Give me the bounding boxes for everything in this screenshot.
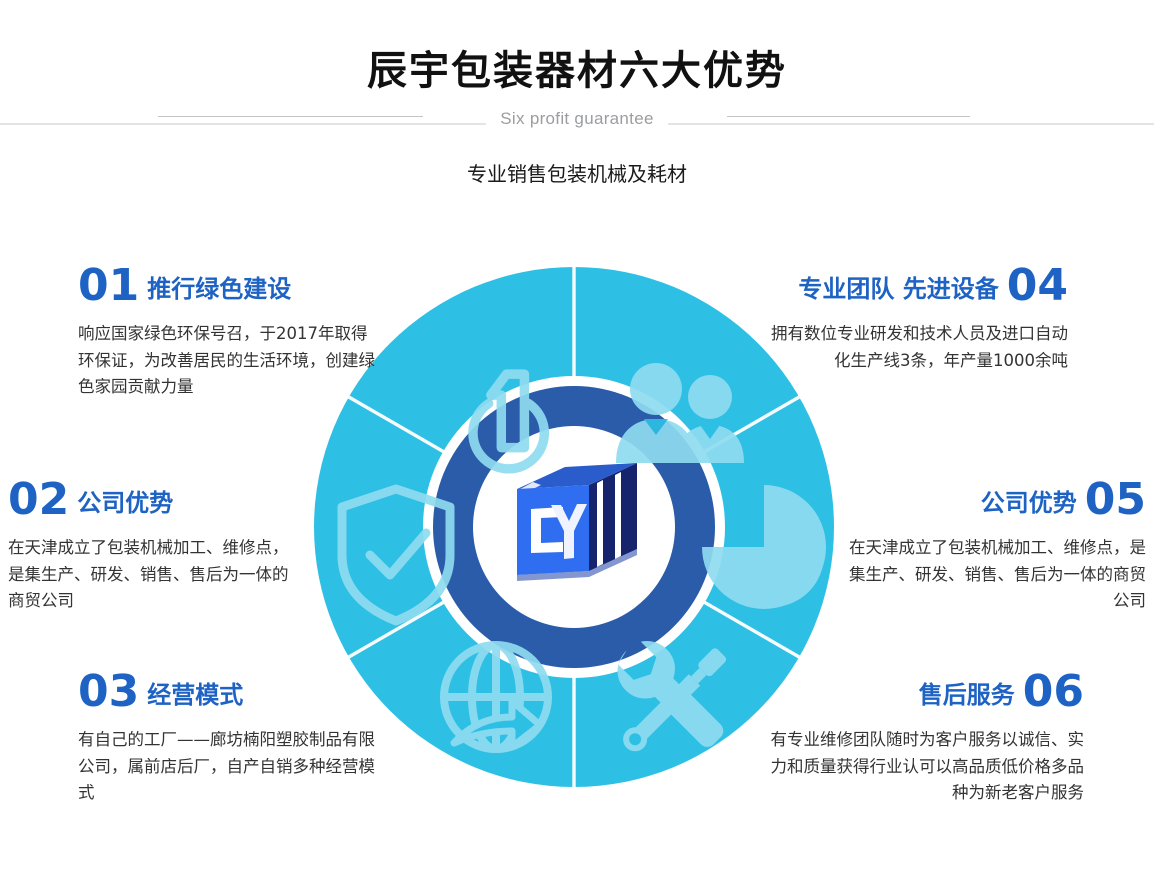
advantage-item-04: 专业团队 先进设备04 拥有数位专业研发和技术人员及进口自动化生产线3条，年产量… [768, 264, 1068, 374]
advantage-item-03: 03经营模式 有自己的工厂——廊坊楠阳塑胶制品有限公司，属前店后厂，自产自销多种… [78, 670, 388, 807]
advantage-number-05: 05 [1085, 474, 1146, 525]
advantage-number-03: 03 [78, 666, 139, 717]
advantage-item-02: 02公司优势 在天津成立了包装机械加工、维修点，是集生产、研发、销售、售后为一体… [0, 478, 300, 615]
advantage-body-03: 有自己的工厂——廊坊楠阳塑胶制品有限公司，属前店后厂，自产自销多种经营模式 [78, 727, 388, 807]
advantage-heading-01: 推行绿色建设 [147, 275, 291, 303]
advantage-item-03-head: 03经营模式 [78, 670, 388, 714]
subtitle-english-text: Six profit guarantee [486, 109, 667, 128]
advantage-item-01-head: 01推行绿色建设 [78, 264, 378, 308]
advantage-heading-04: 专业团队 先进设备 [798, 275, 998, 303]
advantage-item-04-head: 专业团队 先进设备04 [768, 264, 1068, 308]
advantage-heading-06: 售后服务 [919, 681, 1015, 709]
advantage-heading-03: 经营模式 [147, 681, 243, 709]
advantage-number-02: 02 [8, 474, 69, 525]
advantage-item-06-head: 售后服务06 [764, 670, 1084, 714]
advantage-body-02: 在天津成立了包装机械加工、维修点，是集生产、研发、销售、售后为一体的商贸公司 [8, 535, 300, 615]
six-advantage-wheel [314, 267, 834, 787]
globe-arrow-icon [444, 645, 548, 749]
advantage-item-05: 公司优势05 在天津成立了包装机械加工、维修点，是集生产、研发、销售、售后为一体… [846, 478, 1146, 615]
advantage-item-06: 售后服务06 有专业维修团队随时为客户服务以诚信、实力和质量获得行业认可以高品质… [764, 670, 1084, 807]
advantage-item-01: 01推行绿色建设 响应国家绿色环保号召，于2017年取得环保证，为改善居民的生活… [78, 264, 378, 401]
advantage-item-02-head: 02公司优势 [8, 478, 300, 522]
advantage-heading-02: 公司优势 [77, 489, 173, 517]
subtitle-chinese: 专业销售包装机械及耗材 [0, 158, 1154, 187]
advantage-number-01: 01 [78, 260, 139, 311]
advantage-body-05: 在天津成立了包装机械加工、维修点，是集生产、研发、销售、售后为一体的商贸公司 [846, 535, 1146, 615]
advantage-body-06: 有专业维修团队随时为客户服务以诚信、实力和质量获得行业认可以高品质低价格多品种为… [764, 727, 1084, 807]
advantage-number-06: 06 [1023, 666, 1084, 717]
advantage-number-04: 04 [1007, 260, 1068, 311]
page-header: 辰宇包装器材六大优势 Six profit guarantee 专业销售包装机械… [0, 0, 1154, 210]
advantage-body-01: 响应国家绿色环保号召，于2017年取得环保证，为改善居民的生活环境，创建绿色家园… [78, 321, 378, 401]
advantage-body-04: 拥有数位专业研发和技术人员及进口自动化生产线3条，年产量1000余吨 [768, 321, 1068, 374]
advantage-item-05-head: 公司优势05 [846, 478, 1146, 522]
page-title: 辰宇包装器材六大优势 [0, 38, 1154, 96]
subtitle-english: Six profit guarantee [0, 109, 1154, 129]
advantage-heading-05: 公司优势 [981, 489, 1077, 517]
